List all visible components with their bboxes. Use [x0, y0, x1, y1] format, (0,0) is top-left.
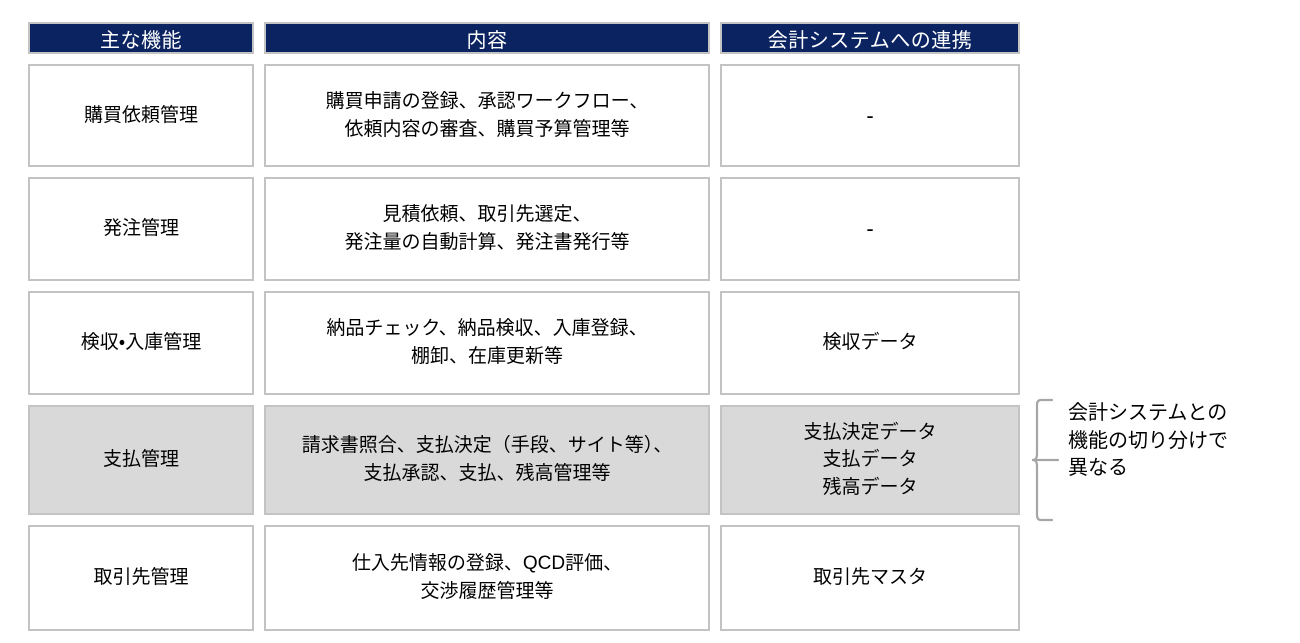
annotation-note-text: 会計システムとの 機能の切り分けで 異なる [1068, 400, 1288, 483]
function-name-label: 支払管理 [103, 446, 179, 474]
cell-content-description: 見積依頼、取引先選定、 発注量の自動計算、発注書発行等 [264, 177, 710, 281]
function-comparison-table: 主な機能 内容 会計システムへの連携 購買依頼管理 購買申請の登録、承認ワークフ… [28, 22, 1020, 631]
content-description-label: 購買申請の登録、承認ワークフロー、 依頼内容の審査、購買予算管理等 [326, 88, 649, 143]
function-name-label: 取引先管理 [93, 564, 188, 592]
content-description-label: 仕入先情報の登録、QCD評価、 交渉履歴管理等 [352, 550, 622, 605]
column-header-label: 主な機能 [100, 24, 182, 53]
table-row: 購買依頼管理 購買申請の登録、承認ワークフロー、 依頼内容の審査、購買予算管理等… [28, 64, 1020, 167]
cell-content-description: 仕入先情報の登録、QCD評価、 交渉履歴管理等 [264, 525, 710, 631]
cell-accounting-linkage: 検収データ [720, 291, 1020, 395]
table-row: 検収・入庫管理 納品チェック、納品検収、入庫登録、 棚卸、在庫更新等 検収データ [28, 291, 1020, 395]
annotation-group: 会計システムとの 機能の切り分けで 異なる [1032, 398, 1292, 522]
table-header-row: 主な機能 内容 会計システムへの連携 [28, 22, 1020, 54]
cell-content-description: 請求書照合、支払決定（手段、サイト等）、 支払承認、支払、残高管理等 [264, 405, 710, 515]
cell-accounting-linkage: 支払決定データ 支払データ 残高データ [720, 405, 1020, 515]
cell-function-name: 支払管理 [28, 405, 254, 515]
cell-function-name: 取引先管理 [28, 525, 254, 631]
cell-function-name: 購買依頼管理 [28, 64, 254, 167]
content-description-label: 納品チェック、納品検収、入庫登録、 棚卸、在庫更新等 [326, 315, 647, 370]
curly-brace-icon [1032, 398, 1066, 522]
function-name-label: 検収・入庫管理 [81, 329, 201, 357]
column-header-label: 会計システムへの連携 [768, 24, 972, 53]
column-header-main-function: 主な機能 [28, 22, 254, 54]
cell-accounting-linkage: - [720, 64, 1020, 167]
accounting-linkage-label: 支払決定データ 支払データ 残高データ [803, 419, 936, 502]
cell-content-description: 納品チェック、納品検収、入庫登録、 棚卸、在庫更新等 [264, 291, 710, 395]
accounting-linkage-label: - [866, 218, 873, 240]
cell-function-name: 検収・入庫管理 [28, 291, 254, 395]
function-name-label: 発注管理 [103, 215, 179, 243]
cell-content-description: 購買申請の登録、承認ワークフロー、 依頼内容の審査、購買予算管理等 [264, 64, 710, 167]
cell-function-name: 発注管理 [28, 177, 254, 281]
table-row: 発注管理 見積依頼、取引先選定、 発注量の自動計算、発注書発行等 - [28, 177, 1020, 281]
cell-accounting-linkage: 取引先マスタ [720, 525, 1020, 631]
table-row-highlighted: 支払管理 請求書照合、支払決定（手段、サイト等）、 支払承認、支払、残高管理等 … [28, 405, 1020, 515]
function-name-label: 購買依頼管理 [84, 102, 198, 130]
content-description-label: 請求書照合、支払決定（手段、サイト等）、 支払承認、支払、残高管理等 [302, 432, 673, 487]
accounting-linkage-label: 取引先マスタ [813, 564, 927, 592]
column-header-content: 内容 [264, 22, 710, 54]
cell-accounting-linkage: - [720, 177, 1020, 281]
column-header-accounting-linkage: 会計システムへの連携 [720, 22, 1020, 54]
column-header-label: 内容 [467, 24, 508, 53]
content-description-label: 見積依頼、取引先選定、 発注量の自動計算、発注書発行等 [344, 201, 629, 256]
accounting-linkage-label: 検収データ [822, 329, 917, 357]
accounting-linkage-label: - [866, 105, 873, 127]
table-row: 取引先管理 仕入先情報の登録、QCD評価、 交渉履歴管理等 取引先マスタ [28, 525, 1020, 631]
slide-canvas: 主な機能 内容 会計システムへの連携 購買依頼管理 購買申請の登録、承認ワークフ… [0, 0, 1300, 643]
